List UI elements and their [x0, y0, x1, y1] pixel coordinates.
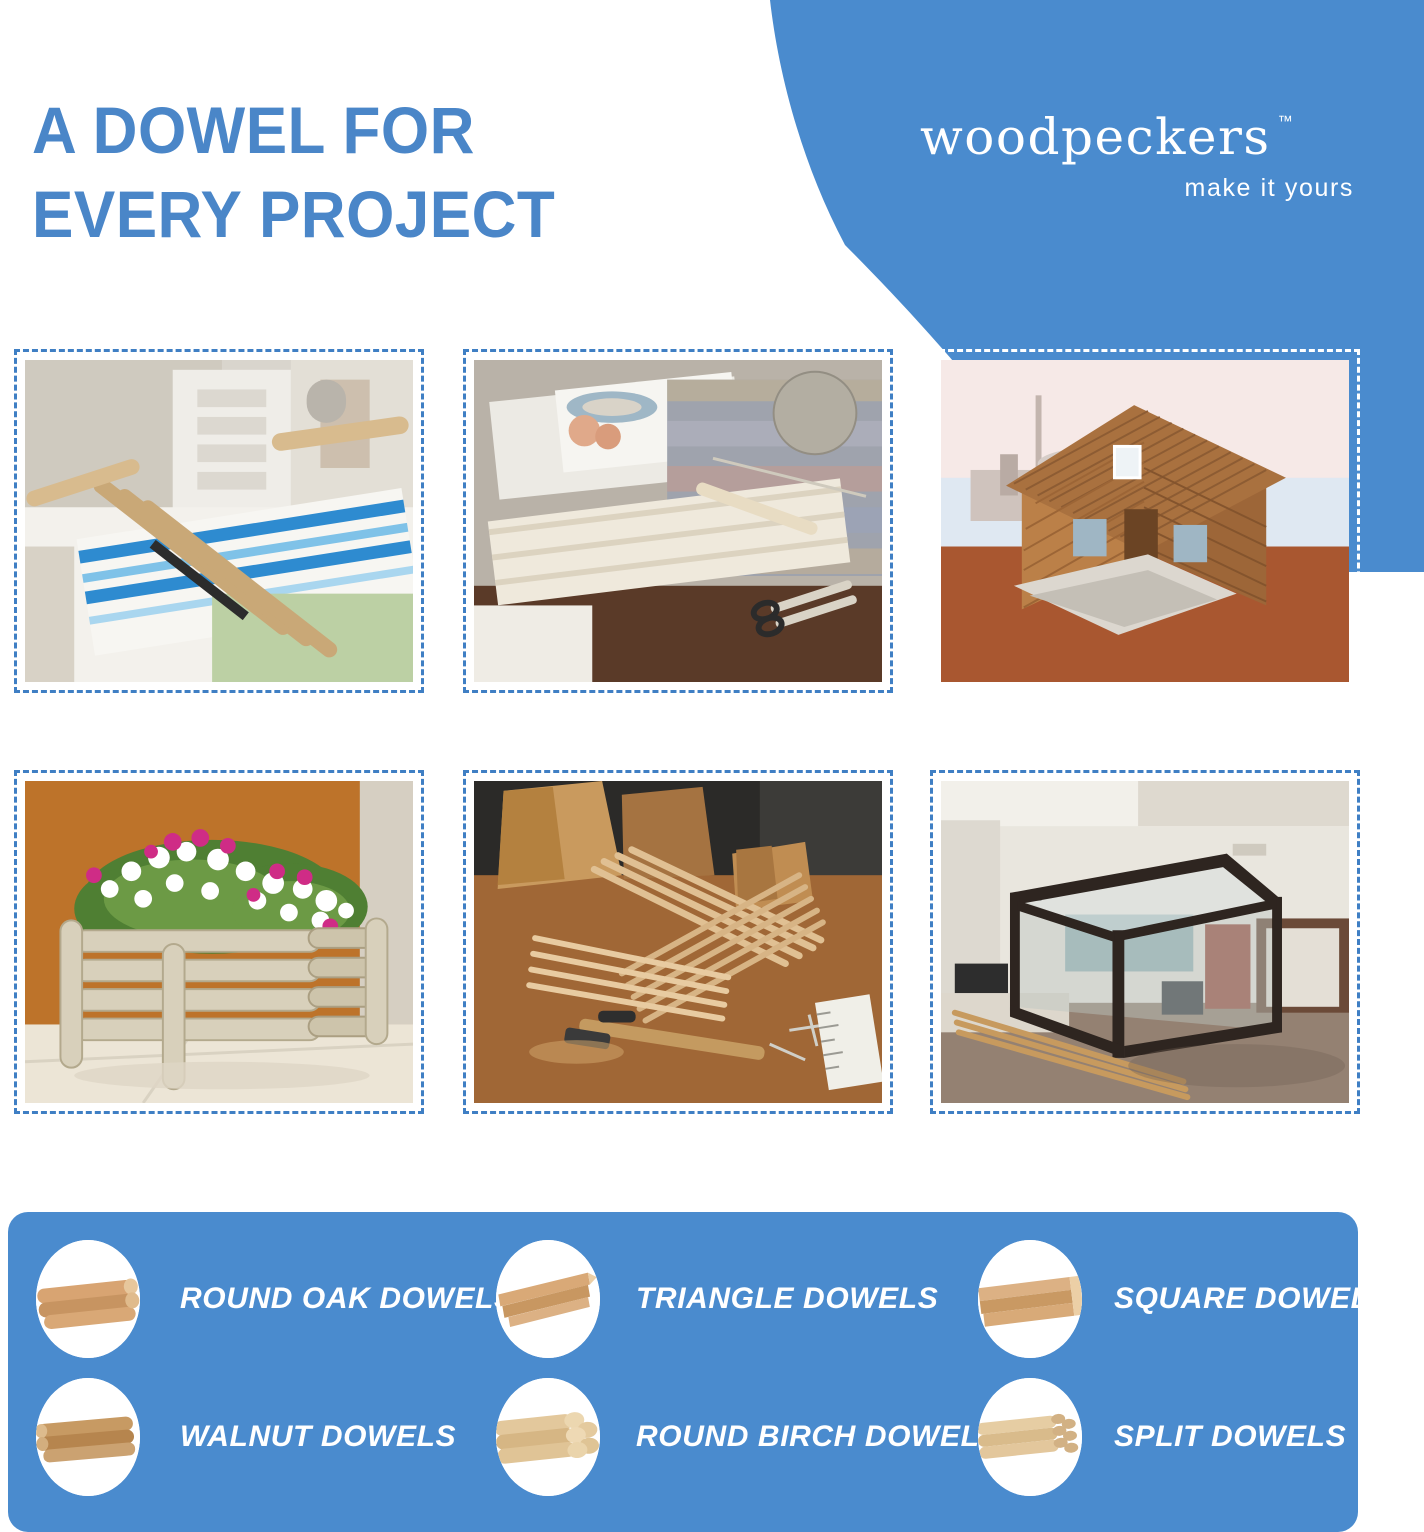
legend-label: ROUND OAK DOWELS [180, 1282, 515, 1316]
legend-item-round-oak-dowels[interactable]: ROUND OAK DOWELS [8, 1234, 484, 1364]
legend-row-1: ROUND OAK DOWELS TRIANGLE DOWELS [8, 1234, 1358, 1364]
photo-dowel-workbench [474, 781, 882, 1103]
triangle-dowels-icon [496, 1240, 600, 1358]
walnut-dowels-icon [36, 1378, 140, 1496]
legend-item-triangle-dowels[interactable]: TRIANGLE DOWELS [484, 1234, 964, 1364]
logo-wordmark: woodpeckers ™ [920, 112, 1271, 162]
photo-card-dowel-workbench[interactable] [463, 770, 893, 1114]
dowel-types-legend: ROUND OAK DOWELS TRIANGLE DOWELS [8, 1212, 1358, 1532]
photo-card-rug-weaving[interactable] [463, 349, 893, 693]
legend-item-split-dowels[interactable]: SPLIT DOWELS [964, 1372, 1358, 1502]
photo-rug-weaving [474, 360, 882, 682]
page-title: A DOWEL FOR EVERY PROJECT [32, 88, 746, 257]
photo-glass-cube [941, 781, 1349, 1103]
legend-item-walnut-dowels[interactable]: WALNUT DOWELS [8, 1372, 484, 1502]
legend-label: SPLIT DOWELS [1114, 1420, 1346, 1454]
legend-label: TRIANGLE DOWELS [636, 1282, 938, 1316]
legend-label: ROUND BIRCH DOWELS [636, 1420, 1000, 1454]
photo-card-planter-box[interactable] [14, 770, 424, 1114]
square-dowels-icon [978, 1240, 1082, 1358]
photo-card-glass-cube[interactable] [930, 770, 1360, 1114]
legend-item-square-dowels[interactable]: SQUARE DOWELS [964, 1234, 1358, 1364]
brand-logo: woodpeckers ™ make it yours [920, 112, 1360, 203]
legend-row-2: WALNUT DOWELS [8, 1372, 1358, 1502]
legend-label: WALNUT DOWELS [180, 1420, 456, 1454]
trademark-icon: ™ [1278, 114, 1293, 129]
round-oak-dowels-icon [36, 1240, 140, 1358]
logo-tagline: make it yours [920, 174, 1360, 203]
photo-planter-box [25, 781, 413, 1103]
photo-card-weaving-loom[interactable] [14, 349, 424, 693]
split-dowels-icon [978, 1378, 1082, 1496]
headline-line-1: A DOWEL FOR [32, 88, 746, 172]
photo-card-log-cabin[interactable] [930, 349, 1360, 693]
round-birch-dowels-icon [496, 1378, 600, 1496]
legend-item-round-birch-dowels[interactable]: ROUND BIRCH DOWELS [484, 1372, 964, 1502]
legend-label: SQUARE DOWELS [1114, 1282, 1390, 1316]
headline-line-2: EVERY PROJECT [32, 172, 746, 256]
logo-wordmark-text: woodpeckers [920, 108, 1271, 166]
photo-log-cabin [941, 360, 1349, 682]
photo-weaving-loom [25, 360, 413, 682]
